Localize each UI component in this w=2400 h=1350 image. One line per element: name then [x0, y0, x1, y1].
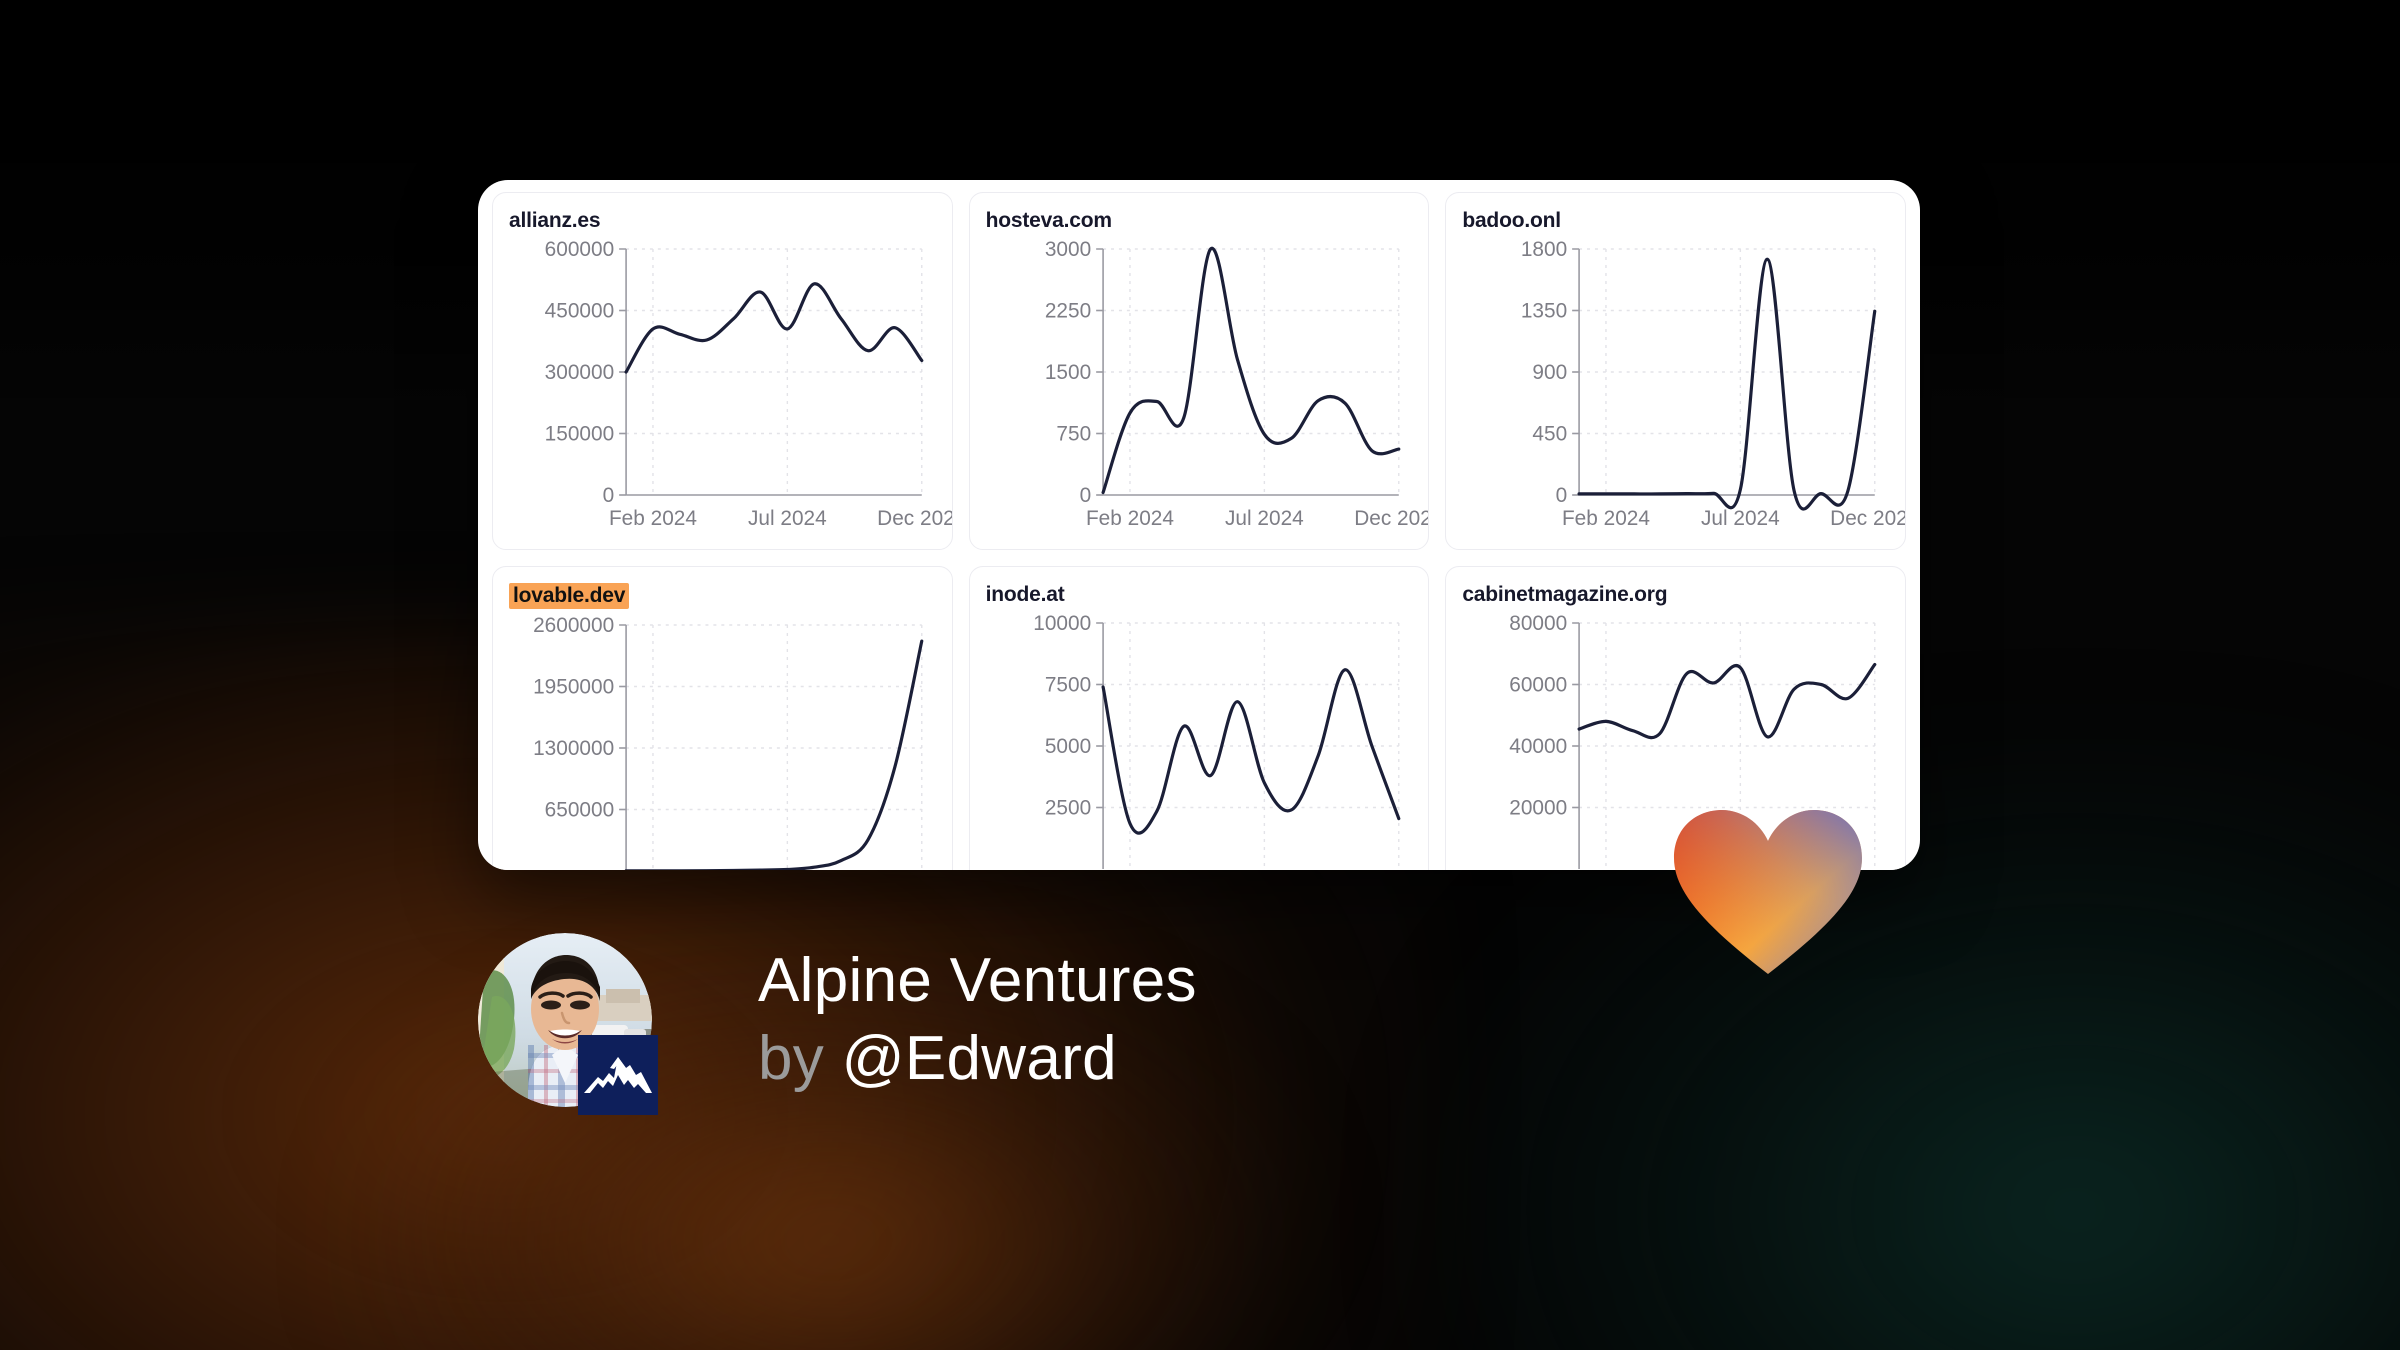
svg-text:40000: 40000 — [1510, 735, 1568, 758]
author-text-block: Alpine Ventures by @Edward — [758, 948, 1197, 1091]
svg-text:3000: 3000 — [1045, 238, 1091, 261]
svg-text:2500: 2500 — [1045, 796, 1091, 819]
svg-text:2250: 2250 — [1045, 299, 1091, 322]
dashboard-panel: allianz.es0150000300000450000600000Feb 2… — [478, 180, 1920, 870]
svg-text:0: 0 — [1556, 484, 1568, 507]
svg-text:60000: 60000 — [1510, 673, 1568, 696]
svg-text:450: 450 — [1533, 422, 1568, 445]
svg-text:1300000: 1300000 — [533, 737, 614, 760]
chart-card[interactable]: hosteva.com0750150022503000Feb 2024Jul 2… — [969, 192, 1430, 550]
svg-text:7500: 7500 — [1045, 673, 1091, 696]
svg-text:1800: 1800 — [1521, 238, 1567, 261]
author-footer: Alpine Ventures by @Edward — [470, 925, 1197, 1115]
avatar-with-badge — [470, 925, 660, 1115]
svg-text:Feb 2024: Feb 2024 — [1562, 507, 1650, 530]
svg-text:Jul 2024: Jul 2024 — [748, 507, 827, 530]
svg-text:0: 0 — [1079, 484, 1091, 507]
chart-plot: 0150000300000450000600000Feb 2024Jul 202… — [509, 239, 936, 539]
svg-text:750: 750 — [1056, 422, 1091, 445]
svg-text:0: 0 — [603, 484, 615, 507]
svg-text:2600000: 2600000 — [533, 614, 614, 637]
chart-plot: 650000130000019500002600000Feb 2024Jul 2… — [509, 615, 936, 870]
svg-text:Feb 2024: Feb 2024 — [1086, 507, 1174, 530]
svg-text:10000: 10000 — [1033, 612, 1091, 635]
chart-card-title: inode.at — [986, 583, 1065, 607]
chart-plot: 25005000750010000Feb 2024Jul 2024Dec 202… — [986, 613, 1413, 870]
chart-card[interactable]: cabinetmagazine.org20000400006000080000F… — [1445, 566, 1906, 870]
svg-text:20000: 20000 — [1510, 796, 1568, 819]
by-label: by — [758, 1024, 824, 1093]
svg-text:Jul 2024: Jul 2024 — [1225, 507, 1304, 530]
page-title: Alpine Ventures — [758, 948, 1197, 1014]
chart-card[interactable]: badoo.onl045090013501800Feb 2024Jul 2024… — [1445, 192, 1906, 550]
svg-text:5000: 5000 — [1045, 735, 1091, 758]
svg-text:1500: 1500 — [1045, 361, 1091, 384]
svg-text:650000: 650000 — [545, 798, 614, 821]
chart-card[interactable]: lovable.dev650000130000019500002600000Fe… — [492, 566, 953, 870]
svg-text:450000: 450000 — [545, 299, 614, 322]
svg-text:900: 900 — [1533, 361, 1568, 384]
svg-text:Dec 2024: Dec 2024 — [877, 507, 952, 530]
svg-text:300000: 300000 — [545, 361, 614, 384]
author-handle: @Edward — [842, 1024, 1117, 1093]
chart-plot: 045090013501800Feb 2024Jul 2024Dec 2024 — [1462, 239, 1889, 539]
svg-text:Dec 2024: Dec 2024 — [1354, 507, 1429, 530]
chart-plot: 0750150022503000Feb 2024Jul 2024Dec 2024 — [986, 239, 1413, 539]
svg-text:Dec 2024: Dec 2024 — [1831, 507, 1906, 530]
chart-card-title: hosteva.com — [986, 209, 1112, 233]
chart-card-title: cabinetmagazine.org — [1462, 583, 1667, 607]
author-line: by @Edward — [758, 1026, 1197, 1092]
svg-text:150000: 150000 — [545, 422, 614, 445]
svg-text:600000: 600000 — [545, 238, 614, 261]
chart-grid: allianz.es0150000300000450000600000Feb 2… — [478, 180, 1920, 870]
chart-card-title: allianz.es — [509, 209, 600, 233]
svg-text:Jul 2024: Jul 2024 — [1701, 507, 1780, 530]
mountain-logo-icon — [578, 1035, 658, 1115]
chart-card-title: badoo.onl — [1462, 209, 1561, 233]
svg-text:1950000: 1950000 — [533, 675, 614, 698]
chart-card-title: lovable.dev — [509, 583, 629, 609]
chart-card[interactable]: allianz.es0150000300000450000600000Feb 2… — [492, 192, 953, 550]
chart-card[interactable]: inode.at25005000750010000Feb 2024Jul 202… — [969, 566, 1430, 870]
svg-text:1350: 1350 — [1521, 299, 1567, 322]
svg-text:80000: 80000 — [1510, 612, 1568, 635]
chart-plot: 20000400006000080000Feb 2024Jul 2024Dec … — [1462, 613, 1889, 870]
svg-text:Feb 2024: Feb 2024 — [609, 507, 697, 530]
screenshot-root: allianz.es0150000300000450000600000Feb 2… — [0, 0, 2400, 1350]
